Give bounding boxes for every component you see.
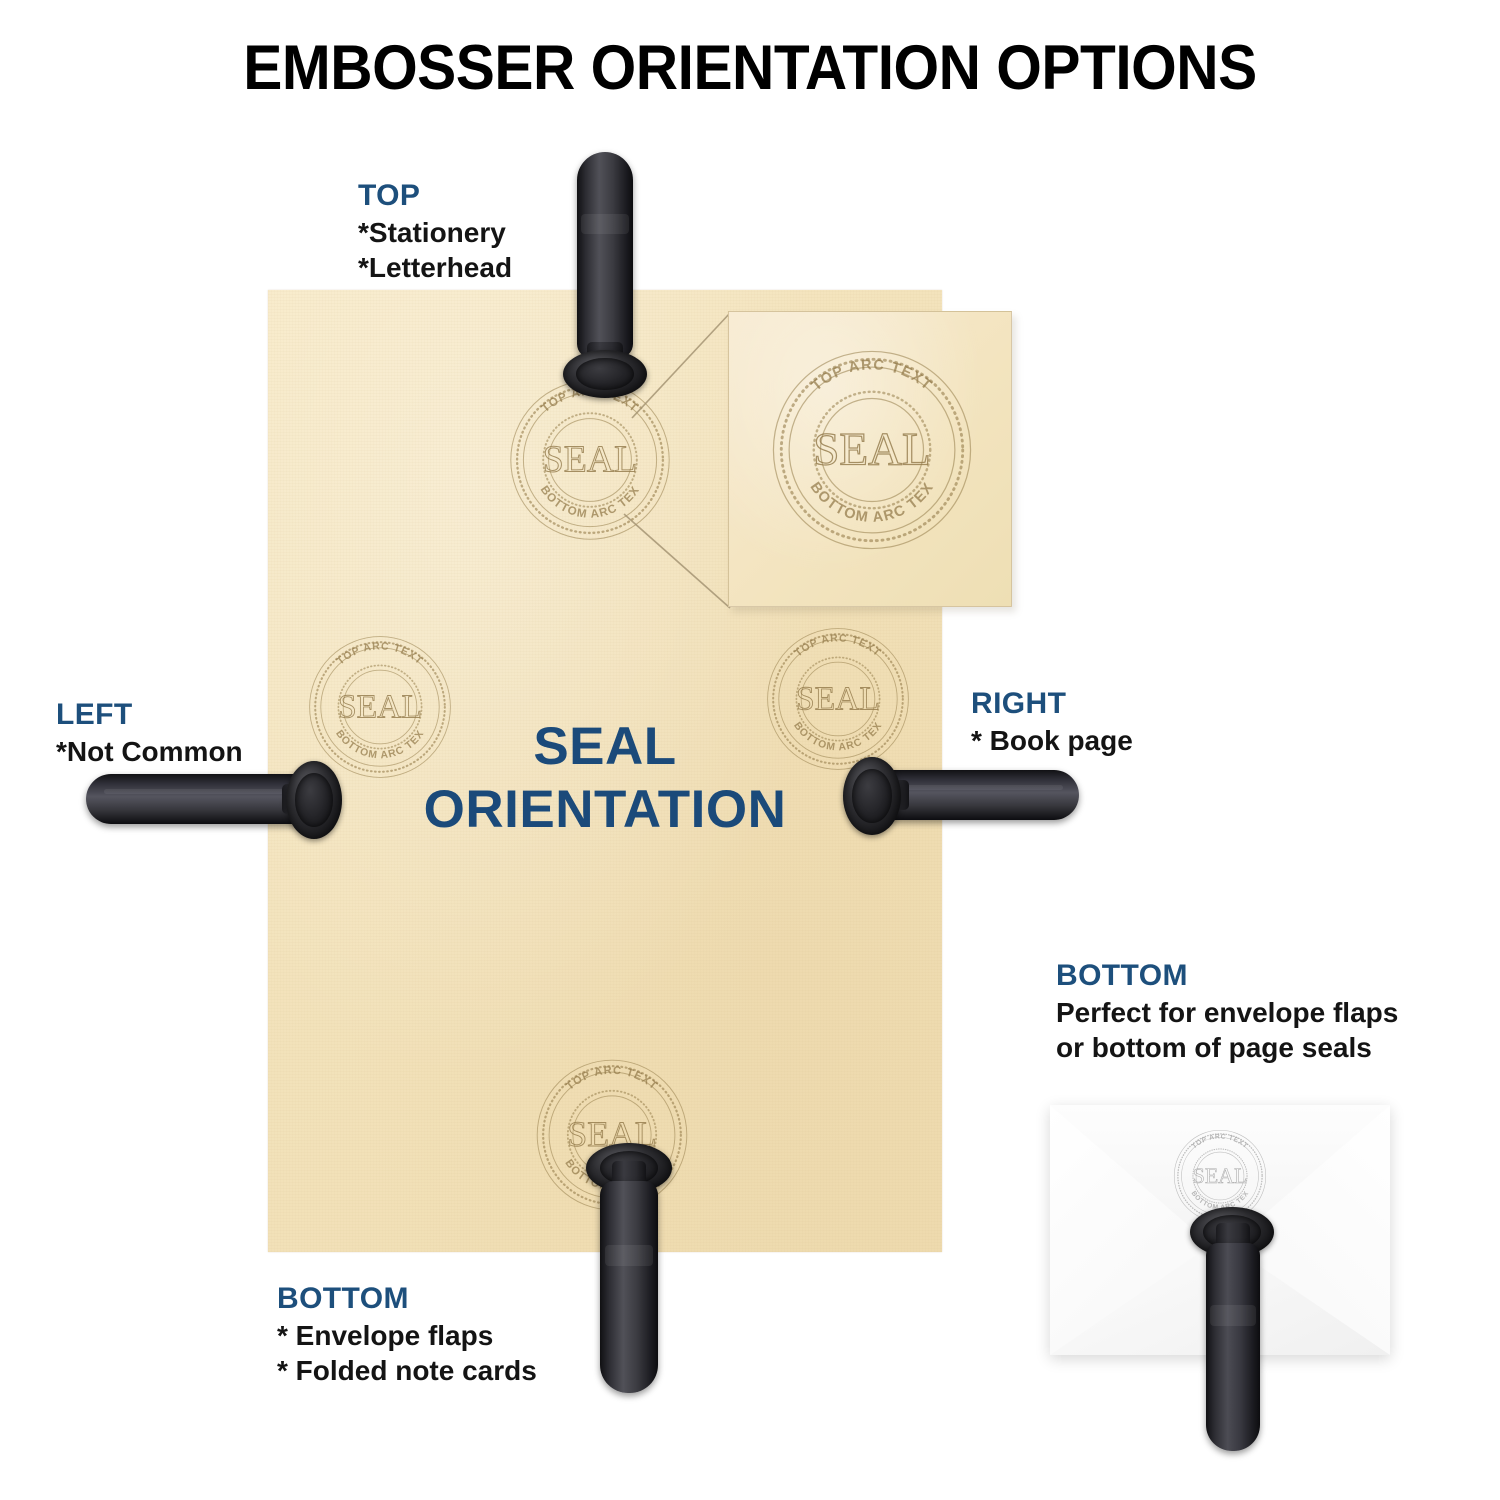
callout-label-bottom-envelope: BOTTOM Perfect for envelope flaps or bot… <box>1056 958 1398 1066</box>
callout-label-right: RIGHT * Book page <box>971 686 1133 758</box>
callout-heading-bottom-envelope: BOTTOM <box>1056 958 1398 995</box>
seal-orientation-line2: ORIENTATION <box>268 779 942 842</box>
embosser-base <box>843 757 901 835</box>
embosser-tool-icon-top <box>545 152 665 392</box>
embosser-tool-icon-right <box>843 753 1079 839</box>
embosser-base <box>286 761 342 839</box>
callout-line-bottom-paper-1: * Folded note cards <box>277 1353 537 1389</box>
callout-label-top: TOP *Stationery *Letterhead <box>358 178 512 286</box>
callout-label-left: LEFT *Not Common <box>56 697 243 769</box>
callout-line-bottom-envelope-1: or bottom of page seals <box>1056 1030 1398 1066</box>
embosser-base <box>563 350 647 398</box>
callout-label-bottom-paper: BOTTOM * Envelope flaps * Folded note ca… <box>277 1281 537 1389</box>
callout-line-top-0: *Stationery <box>358 215 512 251</box>
embosser-handle <box>881 770 1079 820</box>
embosser-tool-icon-bottom <box>568 1143 690 1395</box>
callout-line-bottom-paper-0: * Envelope flaps <box>277 1318 537 1354</box>
callout-line-left-0: *Not Common <box>56 734 243 770</box>
embosser-tool-icon-left <box>86 757 348 843</box>
seal-orientation-line1: SEAL <box>268 716 942 779</box>
callout-heading-top: TOP <box>358 178 512 215</box>
callout-heading-left: LEFT <box>56 697 243 734</box>
embosser-handle <box>577 152 633 358</box>
magnifier-callout-box <box>728 311 1012 607</box>
callout-heading-bottom-paper: BOTTOM <box>277 1281 537 1318</box>
embosser-handle <box>1206 1243 1260 1451</box>
embosser-handle <box>600 1181 658 1393</box>
callout-line-right-0: * Book page <box>971 723 1133 759</box>
embosser-tool-icon-envelope <box>1178 1207 1294 1455</box>
page-title: EMBOSSER ORIENTATION OPTIONS <box>53 32 1448 104</box>
callout-line-top-1: *Letterhead <box>358 250 512 286</box>
callout-line-bottom-envelope-0: Perfect for envelope flaps <box>1056 995 1398 1031</box>
callout-heading-right: RIGHT <box>971 686 1133 723</box>
embosser-handle <box>86 774 308 824</box>
seal-orientation-label: SEAL ORIENTATION <box>268 716 942 841</box>
